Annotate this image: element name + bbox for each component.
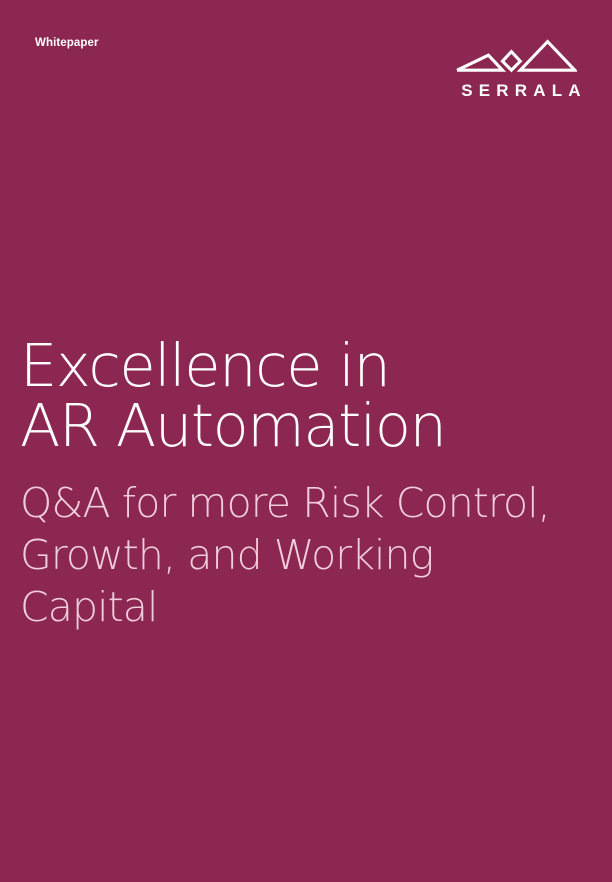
document-type-kicker: Whitepaper	[35, 38, 99, 50]
serrala-logo: SERRALA	[455, 38, 577, 99]
cover-header: Whitepaper SERRALA	[0, 0, 612, 130]
serrala-wordmark: SERRALA	[455, 82, 577, 99]
page-subtitle: Q&A for more Risk Control, Growth, and W…	[20, 456, 582, 633]
serrala-mountain-logo-icon	[455, 38, 577, 78]
cover-title-block: Excellence in AR Automation Q&A for more…	[20, 336, 582, 633]
whitepaper-cover-page: Whitepaper SERRALA Excellence in AR Auto…	[0, 0, 612, 882]
page-title: Excellence in AR Automation	[20, 336, 582, 456]
